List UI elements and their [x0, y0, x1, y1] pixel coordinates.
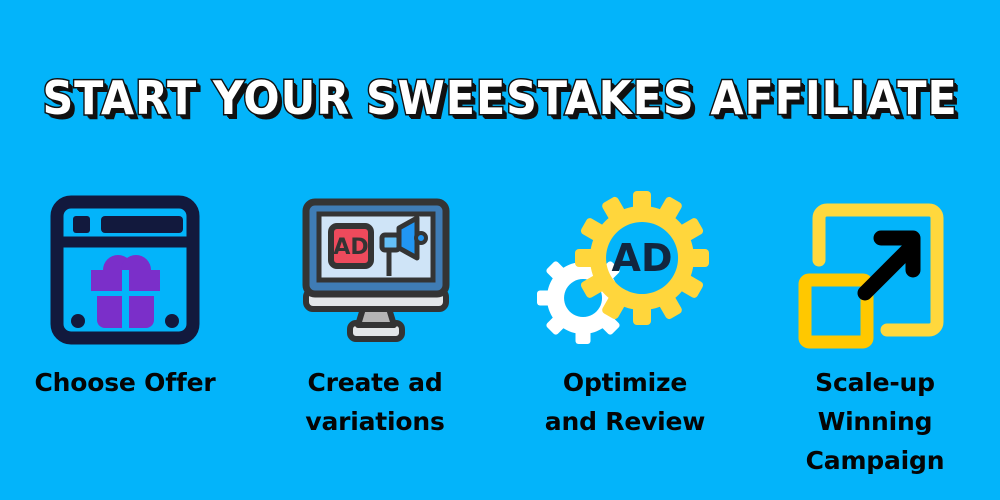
monitor-ad-megaphone-icon: AD — [293, 190, 458, 350]
caption-line: Create ad — [305, 363, 444, 402]
browser-gift-icon — [45, 190, 205, 350]
poster-canvas: START YOUR SWEESTAKES AFFILIATE — [0, 0, 1000, 500]
step-caption-1: Choose Offer — [35, 363, 216, 402]
scale-up-arrow-icon — [793, 190, 958, 350]
caption-line: Choose Offer — [35, 363, 216, 402]
steps-row: Choose Offer AD — [0, 185, 1000, 480]
caption-line: Optimize — [545, 363, 705, 402]
step-caption-4: Scale-up Winning Campaign — [806, 363, 945, 480]
caption-line: Winning — [806, 402, 945, 441]
caption-line: Scale-up — [806, 363, 945, 402]
step-optimize-review: AD Optimize and Review — [500, 185, 750, 480]
caption-line: variations — [305, 402, 444, 441]
icon-container-4 — [780, 185, 970, 355]
step-caption-3: Optimize and Review — [545, 363, 705, 441]
page-title: START YOUR SWEESTAKES AFFILIATE — [42, 72, 957, 124]
caption-line: Campaign — [806, 441, 945, 480]
step-scale-up: Scale-up Winning Campaign — [750, 185, 1000, 480]
step-caption-2: Create ad variations — [305, 363, 444, 441]
caption-line: and Review — [545, 402, 705, 441]
step-create-ad: AD Create ad variations — [250, 185, 500, 480]
icon-container-2: AD — [280, 185, 470, 355]
gear-ad-label: AD — [612, 236, 673, 280]
gears-ad-icon: AD — [535, 188, 715, 353]
title-container: START YOUR SWEESTAKES AFFILIATE — [0, 72, 1000, 124]
svg-text:AD: AD — [333, 235, 368, 260]
step-choose-offer: Choose Offer — [0, 185, 250, 480]
icon-container-3: AD — [530, 185, 720, 355]
icon-container-1 — [30, 185, 220, 355]
